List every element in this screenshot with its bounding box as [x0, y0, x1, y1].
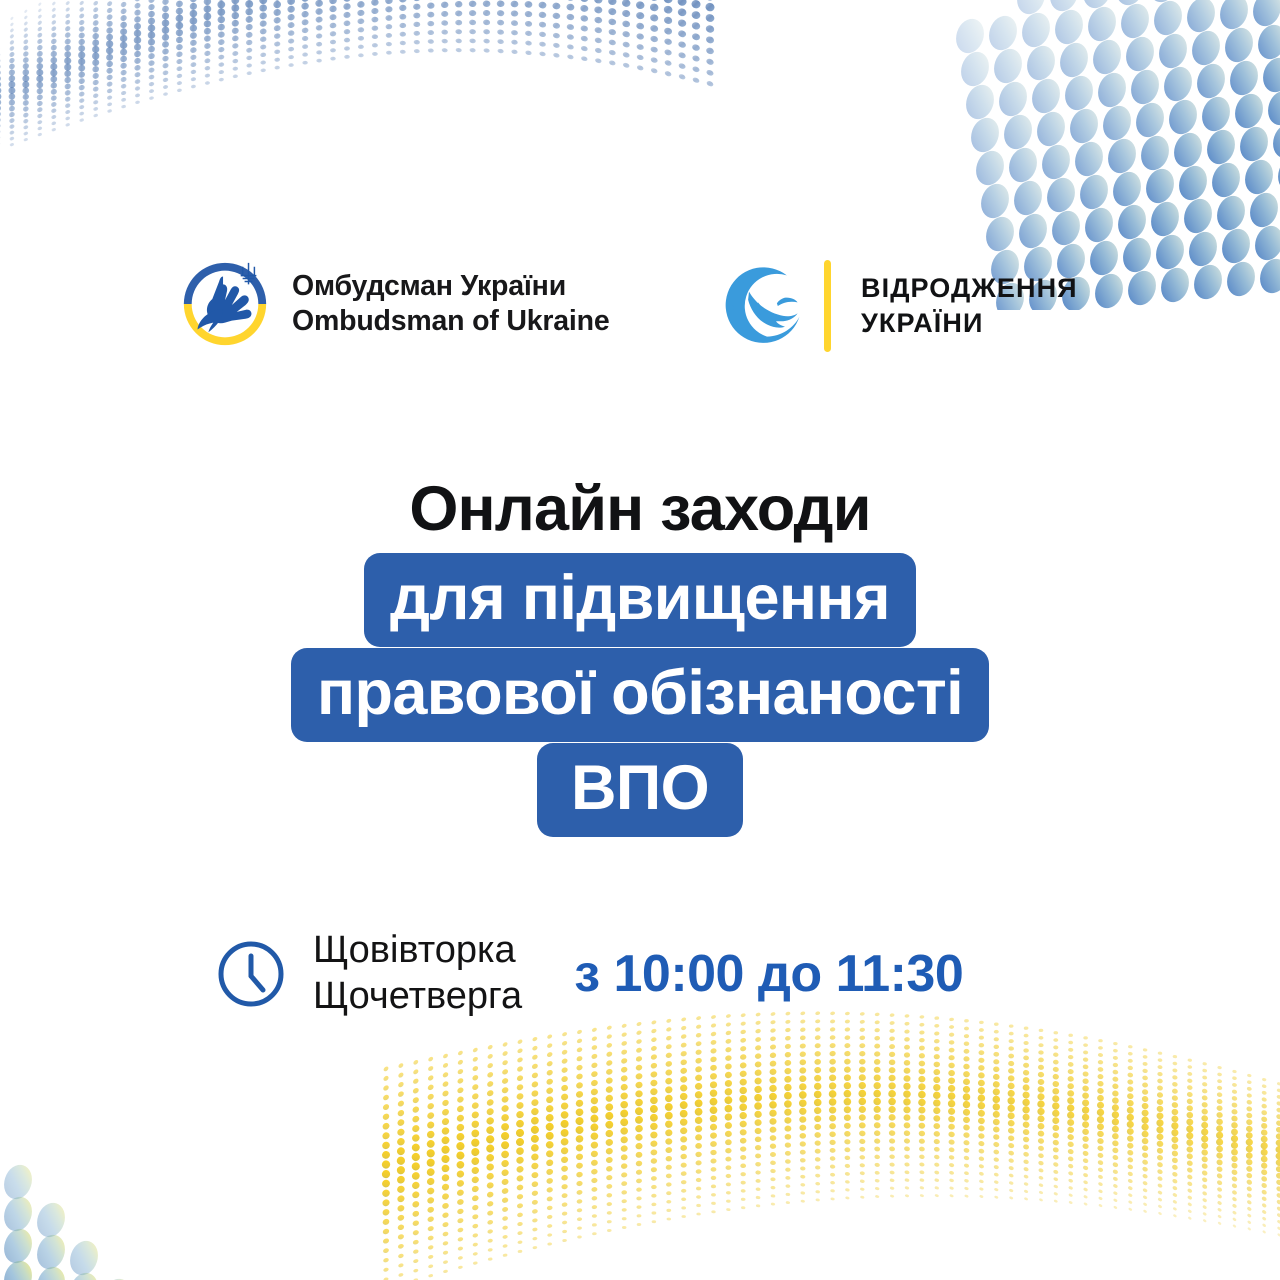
logo-ombudsman: Омбудсман України Ombudsman of Ukraine: [176, 254, 609, 354]
headline-boxed-line-2: правової обізнаності: [291, 648, 989, 742]
ombudsman-hand-dove-emblem: [176, 254, 274, 354]
schedule-day-1: Щовівторка: [313, 928, 522, 974]
ombudsman-name-ua: Омбудсман України: [292, 269, 609, 304]
halftone-dot-grid-bottom-left: [0, 1010, 300, 1280]
logo-row: Омбудсман України Ombudsman of Ukraine В…: [0, 248, 1280, 368]
vidrodzhennya-line2: УКРАЇНИ: [861, 306, 1078, 341]
logo-vidrodzhennya: ВІДРОДЖЕННЯ УКРАЇНИ: [722, 260, 1078, 352]
headline-block: Онлайн заходи для підвищення правової об…: [0, 478, 1280, 837]
ombudsman-name-en: Ombudsman of Ukraine: [292, 304, 609, 339]
poster-canvas: Омбудсман України Ombudsman of Ukraine В…: [0, 0, 1280, 1280]
vidrodzhennya-logo-text: ВІДРОДЖЕННЯ УКРАЇНИ: [861, 271, 1078, 341]
phoenix-bird-circle-icon: [722, 261, 812, 351]
vertical-divider-icon: [824, 260, 831, 352]
halftone-dot-wave-bottom-right: [380, 1000, 1280, 1280]
vidrodzhennya-line1: ВІДРОДЖЕННЯ: [861, 271, 1078, 306]
headline-plain-line: Онлайн заходи: [409, 478, 870, 541]
schedule-days: Щовівторка Щочетверга: [313, 928, 522, 1019]
ombudsman-logo-text: Омбудсман України Ombudsman of Ukraine: [292, 269, 609, 340]
schedule-day-2: Щочетверга: [313, 974, 522, 1020]
clock-icon: [215, 938, 287, 1010]
headline-boxed-line-1: для підвищення: [364, 553, 916, 647]
schedule-time-range: з 10:00 до 11:30: [574, 944, 963, 1004]
headline-boxed-line-3: ВПО: [537, 743, 743, 837]
schedule-block: Щовівторка Щочетверга з 10:00 до 11:30: [215, 928, 963, 1019]
